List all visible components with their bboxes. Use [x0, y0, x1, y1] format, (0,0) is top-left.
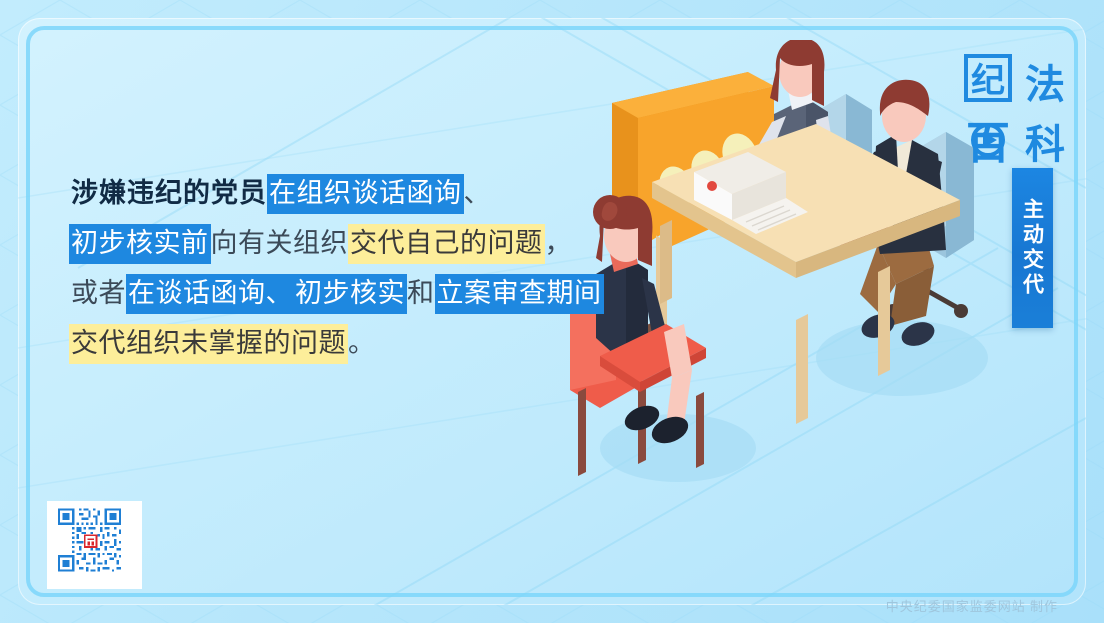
headline-segment-highlight: 立案审查期间 [436, 275, 603, 313]
headline-segment-highlight: 交代自己的问题 [349, 225, 544, 263]
logo-char-fa: 法 [1025, 62, 1065, 107]
qr-code-image [52, 506, 127, 574]
chair-leg-3 [696, 392, 704, 468]
laptop-logo-dot [707, 181, 717, 191]
headline-line-4: 交代组织未掌握的问题。 [70, 318, 630, 368]
headline-block: 涉嫌违纪的党员在组织谈话函询、 初步核实前向有关组织交代自己的问题， 或者在谈话… [70, 168, 630, 368]
headline-segment-highlight: 在组织谈话函询 [268, 175, 463, 213]
footer-credit: 中央纪委国家监委网站 制作 [886, 596, 1058, 615]
headline-segment-highlight: 初步核实 [294, 275, 406, 313]
headline-segment-highlight: 在谈话函询、 [127, 275, 294, 313]
poster-root: 涉嫌违纪的党员在组织谈话函询、 初步核实前向有关组织交代自己的问题， 或者在谈话… [0, 0, 1104, 623]
logo-char-ke: 科 [1025, 122, 1065, 167]
chair-leg-1 [578, 388, 586, 476]
qr-code[interactable] [47, 501, 142, 589]
headline-segment-highlight: 交代组织未掌握的问题 [70, 325, 347, 363]
headline-segment: 或者 [70, 275, 127, 313]
headline-line-1: 涉嫌违纪的党员在组织谈话函询、 [70, 168, 630, 218]
floor-shadow-right [816, 320, 988, 396]
chair-wheel-2 [954, 304, 968, 318]
headline-segment: 向有关组织 [210, 225, 350, 263]
logo-char-ji: 纪 [971, 62, 1005, 100]
topic-ribbon-label: 主动交代 [1016, 198, 1050, 298]
headline-segment: 。 [347, 325, 377, 363]
headline-segment: 、 [463, 175, 493, 213]
brand-logo[interactable]: 纪 法 百 科 [963, 52, 1075, 172]
illustration-interview-scene [560, 40, 1030, 510]
headline-segment-highlight: 初步核实前 [70, 225, 210, 263]
headline-segment: 和 [406, 275, 436, 313]
headline-segment: 涉嫌违纪的党员 [70, 175, 268, 213]
headline-segment: ， [544, 225, 574, 263]
headline-line-2: 初步核实前向有关组织交代自己的问题， [70, 218, 630, 268]
topic-ribbon: 主动交代 [1012, 168, 1053, 328]
headline-line-3: 或者在谈话函询、初步核实和立案审查期间 [70, 268, 630, 318]
